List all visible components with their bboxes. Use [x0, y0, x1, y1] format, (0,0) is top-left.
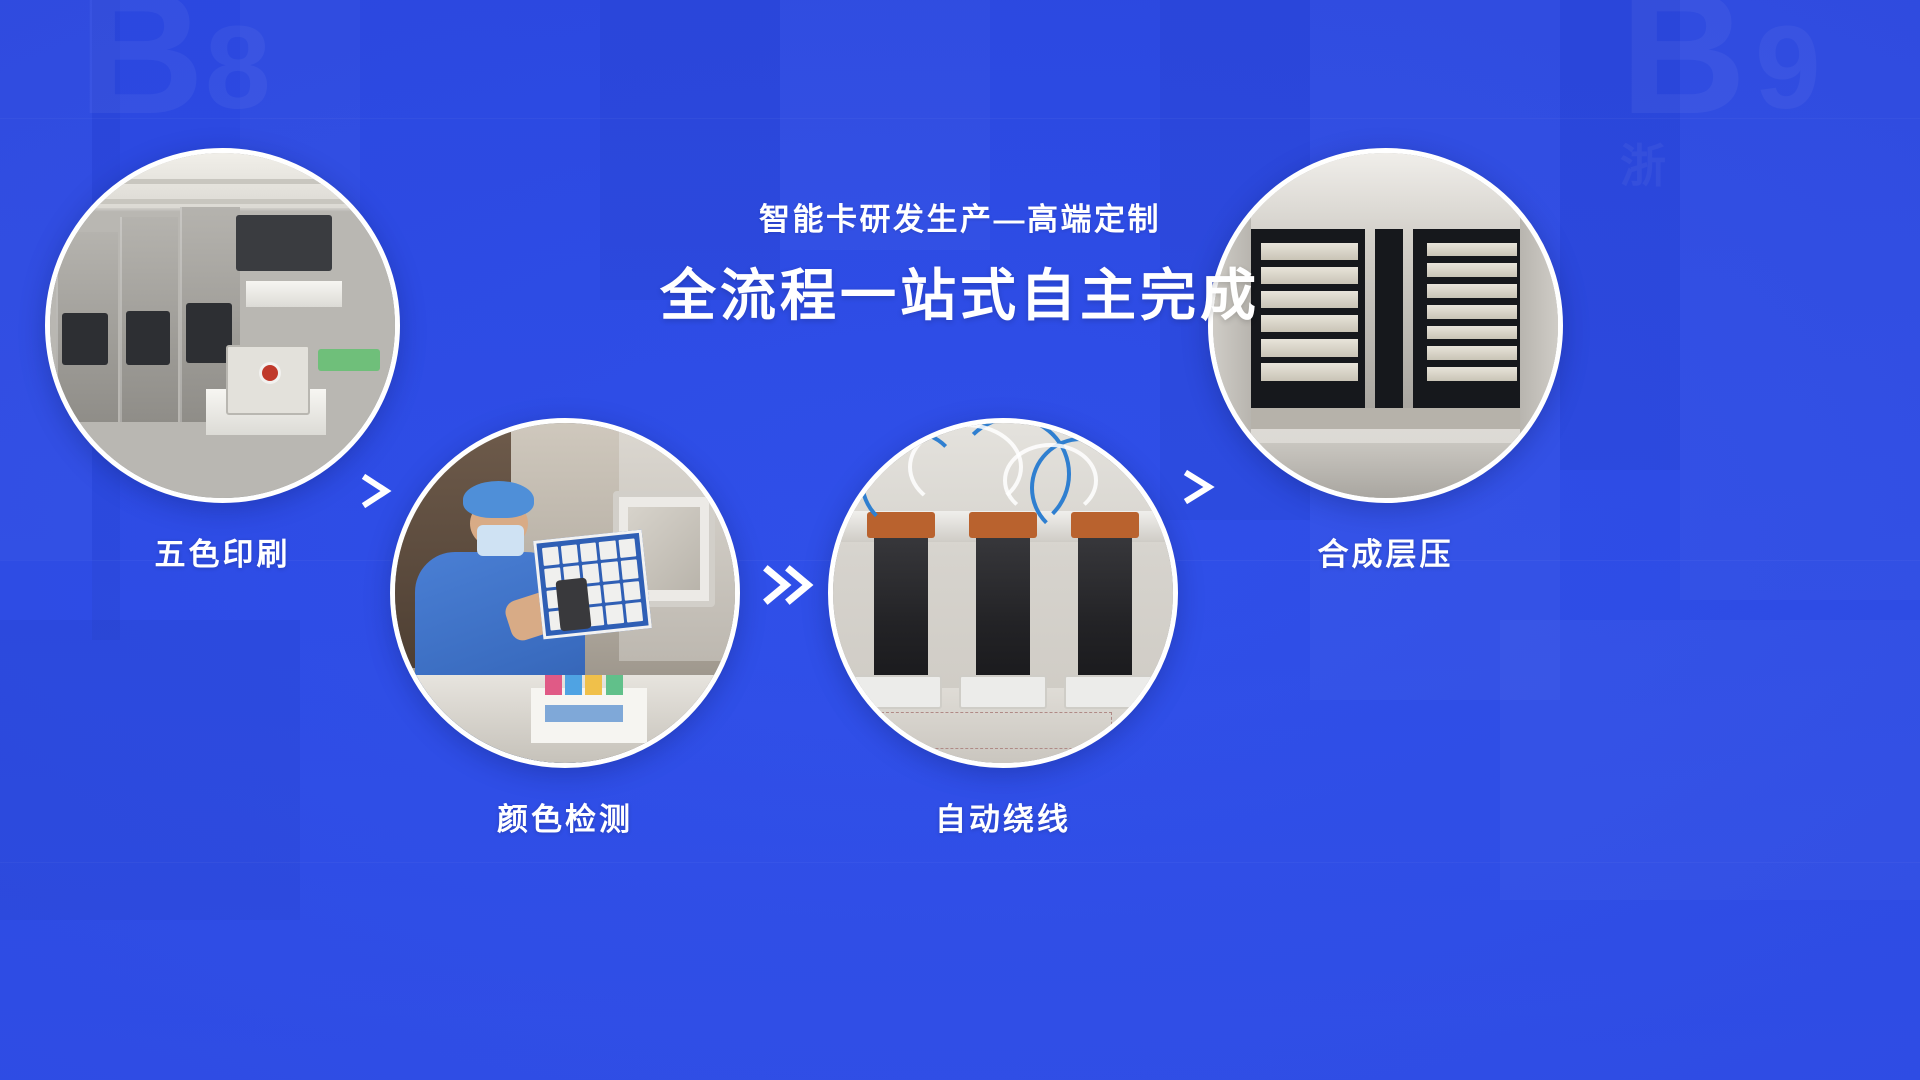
air-hose	[1003, 443, 1098, 518]
press-tray	[1427, 367, 1517, 381]
press-tray	[1261, 363, 1358, 380]
work-plate-outline	[881, 712, 1112, 749]
spectrophotometer	[556, 578, 592, 632]
press-tray	[1427, 346, 1517, 360]
press-brand-mark	[66, 379, 69, 389]
photo-coil-winding	[833, 423, 1173, 763]
winding-head	[976, 525, 1030, 688]
banner-title: 全流程一站式自主完成	[0, 262, 1920, 329]
chevron-right-icon-1	[355, 470, 397, 512]
color-swatch-row	[545, 705, 623, 722]
step-2-photo[interactable]	[390, 418, 740, 768]
color-swatch	[606, 675, 623, 695]
banner-subtitle: 智能卡研发生产—高端定制	[0, 200, 1920, 240]
color-swatch	[585, 675, 602, 695]
head-foot-plate	[853, 675, 941, 709]
operator-mask	[477, 525, 525, 556]
step-3-label: 自动绕线	[828, 794, 1178, 839]
photo-color-inspection	[395, 423, 735, 763]
step-4-label: 合成层压	[1208, 529, 1563, 574]
head-foot-plate	[1064, 675, 1152, 709]
chevron-right-icon-2	[1176, 465, 1220, 509]
photo-ceiling-bar	[50, 179, 395, 184]
green-stack	[318, 349, 380, 371]
press-base	[1213, 443, 1558, 498]
color-swatch	[545, 675, 562, 695]
background-foliage	[0, 850, 1920, 1080]
step-2-label: 颜色检测	[390, 794, 740, 839]
step-3-photo[interactable]	[828, 418, 1178, 768]
process-step-3[interactable]: 自动绕线	[828, 418, 1178, 839]
operator-cap	[463, 481, 534, 518]
press-tray	[1261, 339, 1358, 356]
emergency-stop-button	[262, 365, 278, 381]
press-bed	[1251, 408, 1520, 429]
headline-block: 智能卡研发生产—高端定制 全流程一站式自主完成	[0, 200, 1920, 329]
winding-head	[1078, 525, 1132, 688]
banner-stage: B 8 B 9 浙 智能卡研发生产—高端定制 全流程一站式自主完成	[0, 0, 1920, 1080]
winding-head	[874, 525, 928, 688]
color-test-sheet	[533, 530, 652, 639]
color-swatch	[565, 675, 582, 695]
chevron-double-right-icon	[760, 560, 822, 610]
head-foot-plate	[959, 675, 1047, 709]
process-step-2[interactable]: 颜色检测	[390, 418, 740, 839]
step-1-label: 五色印刷	[45, 529, 400, 574]
